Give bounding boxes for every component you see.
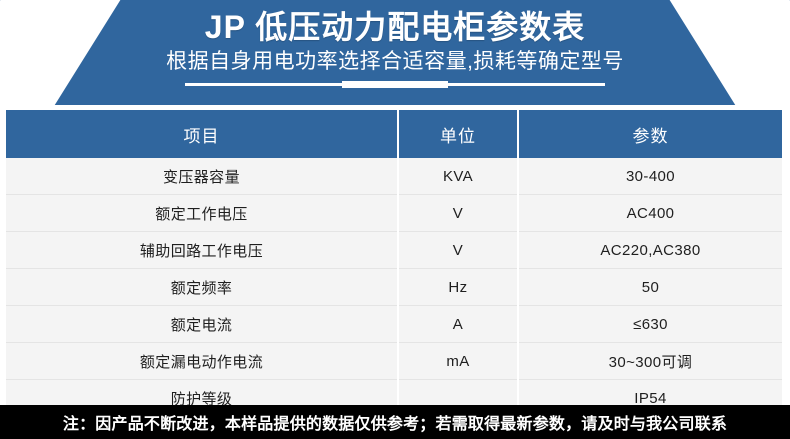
cell-item: 额定工作电压 xyxy=(6,195,398,232)
spec-sheet-page: JP 低压动力配电柜参数表 根据自身用电功率选择合适容量,损耗等确定型号 项目 … xyxy=(0,0,790,439)
cell-unit: KVA xyxy=(398,158,518,195)
cell-unit: V xyxy=(398,195,518,232)
table-row: 额定漏电动作电流 mA 30~300可调 xyxy=(6,343,782,380)
cell-value: 30~300可调 xyxy=(518,343,782,380)
table-row: 额定频率 Hz 50 xyxy=(6,269,782,306)
column-header-value: 参数 xyxy=(518,110,782,158)
cell-item: 额定漏电动作电流 xyxy=(6,343,398,380)
cell-item: 额定电流 xyxy=(6,306,398,343)
table-row: 变压器容量 KVA 30-400 xyxy=(6,158,782,195)
cell-value: AC220,AC380 xyxy=(518,232,782,269)
cell-item: 变压器容量 xyxy=(6,158,398,195)
cell-unit: mA xyxy=(398,343,518,380)
header-divider-rule xyxy=(185,83,605,86)
cell-unit: V xyxy=(398,232,518,269)
spec-table: 项目 单位 参数 变压器容量 KVA 30-400 额定工作电压 V AC400… xyxy=(6,110,782,416)
footer-note: 注：因产品不断改进，本样品提供的数据仅供参考；若需取得最新参数，请及时与我公司联… xyxy=(0,405,790,439)
page-title: JP 低压动力配电柜参数表 xyxy=(205,7,585,47)
spec-table-body: 变压器容量 KVA 30-400 额定工作电压 V AC400 辅助回路工作电压… xyxy=(6,158,782,416)
cell-unit: A xyxy=(398,306,518,343)
cell-item: 辅助回路工作电压 xyxy=(6,232,398,269)
spec-table-wrapper: 项目 单位 参数 变压器容量 KVA 30-400 额定工作电压 V AC400… xyxy=(6,110,782,416)
column-header-item: 项目 xyxy=(6,110,398,158)
cell-item: 额定频率 xyxy=(6,269,398,306)
spec-table-head: 项目 单位 参数 xyxy=(6,110,782,158)
table-row: 额定电流 A ≤630 xyxy=(6,306,782,343)
page-subtitle: 根据自身用电功率选择合适容量,损耗等确定型号 xyxy=(166,48,624,76)
cell-value: 50 xyxy=(518,269,782,306)
header-banner: JP 低压动力配电柜参数表 根据自身用电功率选择合适容量,损耗等确定型号 xyxy=(0,0,790,105)
cell-unit: Hz xyxy=(398,269,518,306)
cell-value: 30-400 xyxy=(518,158,782,195)
cell-value: ≤630 xyxy=(518,306,782,343)
table-row: 辅助回路工作电压 V AC220,AC380 xyxy=(6,232,782,269)
table-header-row: 项目 单位 参数 xyxy=(6,110,782,158)
header-text-block: JP 低压动力配电柜参数表 根据自身用电功率选择合适容量,损耗等确定型号 xyxy=(0,0,790,105)
header-divider-center-block xyxy=(342,81,448,88)
table-row: 额定工作电压 V AC400 xyxy=(6,195,782,232)
column-header-unit: 单位 xyxy=(398,110,518,158)
cell-value: AC400 xyxy=(518,195,782,232)
